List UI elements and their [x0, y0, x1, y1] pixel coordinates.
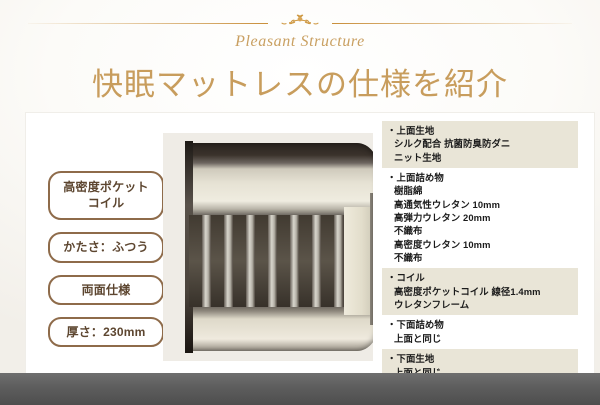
spec-heading: ・コイル: [387, 271, 574, 284]
script-subtitle: Pleasant Structure: [0, 33, 600, 51]
spec-heading: ・上面生地: [387, 124, 574, 137]
spec-detail: 高密度ポケットコイル 線径1.4mm: [387, 285, 574, 298]
spec-block-top-filling: ・上面詰め物 樹脂綿 高通気性ウレタン 10mm 高弾力ウレタン 20mm 不織…: [382, 168, 578, 268]
spec-detail: 高密度ウレタン 10mm: [387, 238, 574, 251]
mattress-photo-inner: [163, 133, 373, 361]
badge-firmness: かたさ：ふつう: [48, 232, 164, 262]
spec-list: ・上面生地 シルク配合 抗菌防臭防ダニ ニット生地 ・上面詰め物 樹脂綿 高通気…: [382, 121, 578, 383]
spec-heading: ・下面生地: [387, 352, 574, 365]
ornament-rule-left: [28, 23, 268, 24]
spec-detail: 不織布: [387, 224, 574, 237]
spec-block-top-fabric: ・上面生地 シルク配合 抗菌防臭防ダニ ニット生地: [382, 121, 578, 168]
page-title: 快眠マットレスの仕様を紹介: [0, 59, 600, 104]
spec-heading: ・上面詰め物: [387, 171, 574, 184]
spec-detail: 不織布: [387, 251, 574, 264]
spec-detail: ニット生地: [387, 151, 574, 164]
top-ornament: [28, 14, 572, 32]
badge-sided-spec: 両面仕様: [48, 275, 164, 305]
spec-block-bottom-filling: ・下面詰め物 上面と同じ: [382, 315, 578, 349]
spec-detail: 樹脂綿: [387, 184, 574, 197]
spec-detail: 高弾力ウレタン 20mm: [387, 211, 574, 224]
badge-column: 高密度ポケット コイル かたさ：ふつう 両面仕様 厚さ：230mm: [48, 171, 164, 359]
spec-detail: 上面と同じ: [387, 332, 574, 345]
urethane-frame: [344, 207, 373, 315]
floral-flourish-icon: [273, 14, 327, 32]
spec-detail: シルク配合 抗菌防臭防ダニ: [387, 137, 574, 150]
spec-heading: ・下面詰め物: [387, 318, 574, 331]
ornament-rule-right: [332, 23, 572, 24]
badge-line: コイル: [54, 195, 158, 211]
mattress-right-edge: [370, 193, 373, 325]
spec-detail: 高通気性ウレタン 10mm: [387, 198, 574, 211]
footer-band: [0, 373, 600, 405]
pocket-coil-region: [189, 215, 344, 307]
spec-detail: ウレタンフレーム: [387, 298, 574, 311]
badge-thickness: 厚さ：230mm: [48, 317, 164, 347]
spec-block-coil: ・コイル 高密度ポケットコイル 線径1.4mm ウレタンフレーム: [382, 268, 578, 315]
badge-coil-type: 高密度ポケット コイル: [48, 171, 164, 220]
content-card: 高密度ポケット コイル かたさ：ふつう 両面仕様 厚さ：230mm: [26, 113, 594, 373]
mattress-photo: [163, 119, 373, 371]
badge-line: 高密度ポケット: [54, 179, 158, 195]
page-root: Pleasant Structure 快眠マットレスの仕様を紹介 高密度ポケット…: [0, 0, 600, 405]
